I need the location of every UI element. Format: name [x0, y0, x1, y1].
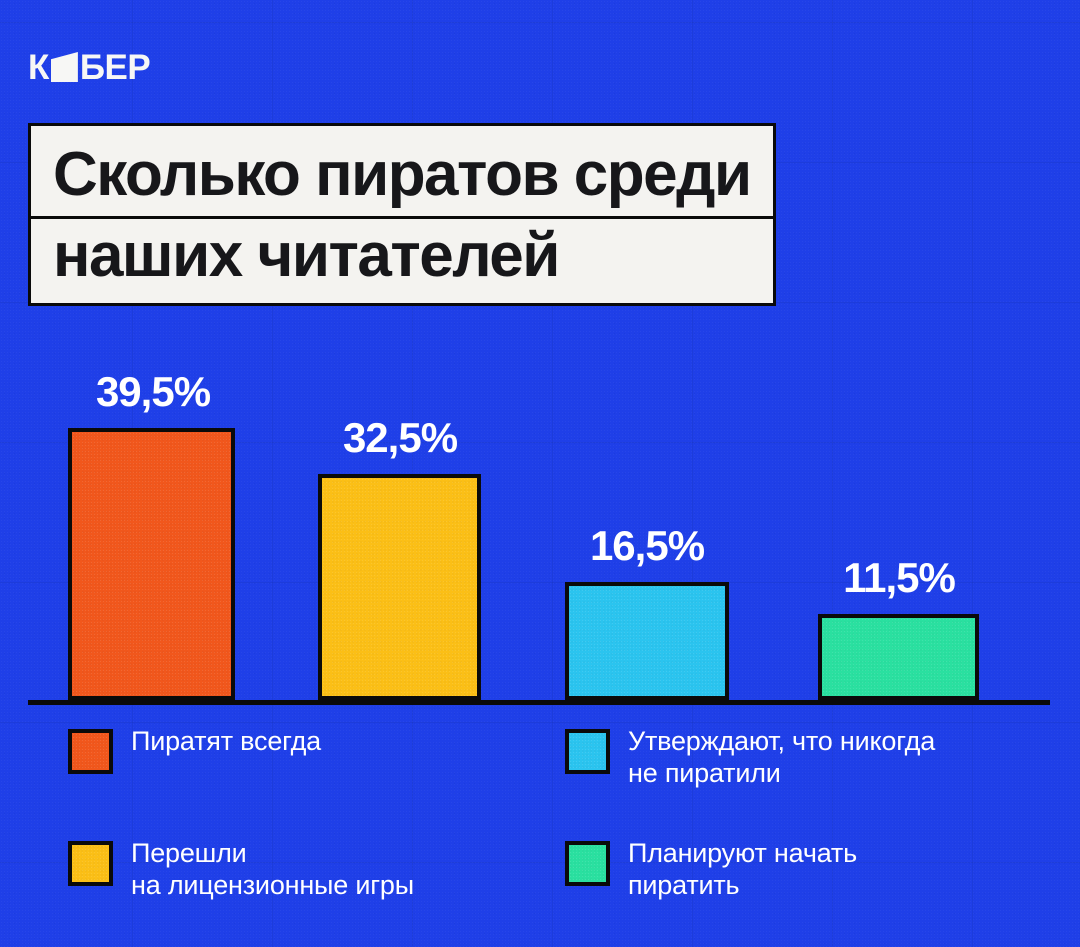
kiber-logo[interactable]: КБЕР — [28, 49, 150, 85]
legend-item: Перешли на лицензионные игры — [68, 838, 565, 902]
chart-bar-value-label: 11,5% — [804, 557, 994, 599]
infographic-canvas: КБЕР Сколько пиратов среди наших читател… — [0, 0, 1080, 947]
legend-item-label: Утверждают, что никогда не пиратили — [628, 726, 935, 790]
legend-item: Утверждают, что никогда не пиратили — [565, 726, 1048, 838]
legend-item: Пиратят всегда — [68, 726, 565, 838]
logo-letter-k: К — [28, 50, 49, 85]
chart-bar-value-label: 16,5% — [552, 525, 742, 567]
logo-wordmark: КБЕР — [28, 50, 150, 85]
legend-swatch-orange — [68, 729, 113, 774]
chart-bar-value-label: 32,5% — [305, 417, 495, 459]
chart-bar — [565, 582, 729, 700]
page-title: Сколько пиратов среди наших читателей — [28, 123, 776, 306]
legend-item: Планируют начать пиратить — [565, 838, 1048, 902]
logo-slab-icon — [51, 52, 78, 82]
chart-bar-value-label: 39,5% — [58, 371, 248, 413]
legend-item-label: Перешли на лицензионные игры — [131, 838, 414, 902]
swatch-texture — [72, 733, 109, 770]
legend-item-label: Планируют начать пиратить — [628, 838, 857, 902]
page-title-line-2: наших читателей — [28, 216, 776, 306]
page-title-line-1: Сколько пиратов среди — [28, 123, 776, 216]
chart-bar — [68, 428, 235, 700]
swatch-texture — [72, 845, 109, 882]
swatch-texture — [569, 845, 606, 882]
legend-item-label: Пиратят всегда — [131, 726, 321, 758]
legend-swatch-green — [565, 841, 610, 886]
bar-texture — [322, 478, 477, 696]
logo-letters-ber: БЕР — [80, 50, 150, 85]
bar-texture — [569, 586, 725, 696]
legend-swatch-cyan — [565, 729, 610, 774]
chart-baseline-axis — [28, 700, 1050, 705]
legend-swatch-yellow — [68, 841, 113, 886]
bar-texture — [72, 432, 231, 696]
bar-texture — [822, 618, 975, 696]
chart-bar — [818, 614, 979, 700]
swatch-texture — [569, 733, 606, 770]
chart-legend: Пиратят всегдаУтверждают, что никогда не… — [68, 726, 1048, 902]
chart-bar — [318, 474, 481, 700]
